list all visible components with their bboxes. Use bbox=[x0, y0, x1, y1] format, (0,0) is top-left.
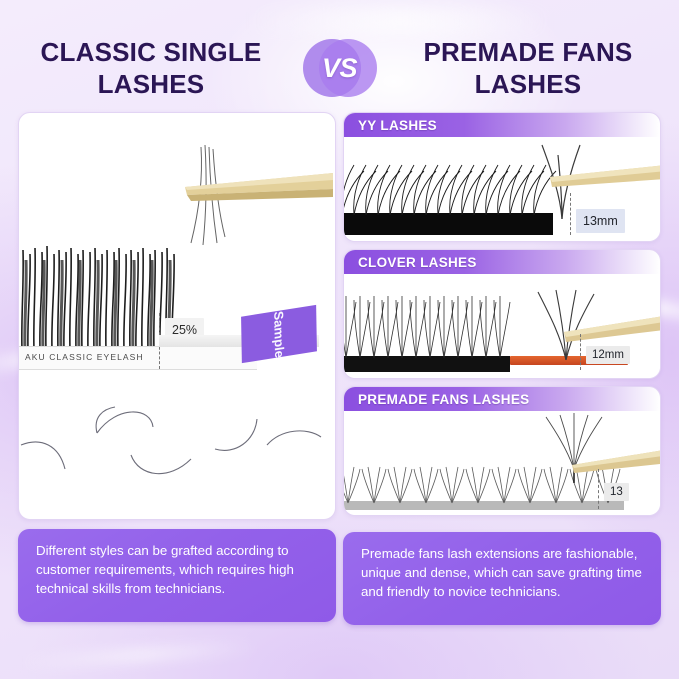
left-column-title: CLASSIC SINGLE LASHES bbox=[6, 36, 296, 101]
premade-fans-banner: PREMADE FANS LASHES bbox=[344, 387, 660, 411]
premade-fan-with-tweezers-illustration bbox=[530, 411, 660, 485]
vs-label: VS bbox=[303, 39, 377, 97]
right-column-title: PREMADE FANS LASHES bbox=[383, 36, 673, 101]
yy-lashes-card: YY LASHES bbox=[343, 112, 661, 242]
measure-guide-line bbox=[570, 193, 571, 235]
classic-lashes-photo-card: AKU CLASSIC EYELASH 25% Sample bbox=[18, 112, 336, 520]
measure-label-13mm: 13mm bbox=[576, 209, 625, 233]
comparison-columns: AKU CLASSIC EYELASH 25% Sample bbox=[0, 112, 679, 642]
measure-label-12mm: 12mm bbox=[586, 346, 630, 364]
clover-lash-tray-illustration bbox=[344, 282, 530, 378]
clover-lashes-title: CLOVER LASHES bbox=[358, 255, 477, 270]
infographic-canvas: CLASSIC SINGLE LASHES VS PREMADE FANS LA… bbox=[0, 0, 679, 679]
yy-lashes-banner: YY LASHES bbox=[344, 113, 660, 137]
clover-lashes-photo: 12mm bbox=[344, 274, 660, 378]
clover-lashes-banner: CLOVER LASHES bbox=[344, 250, 660, 274]
sample-watermark-tag: Sample bbox=[241, 305, 317, 363]
individual-curved-lashes-illustration bbox=[19, 393, 335, 513]
right-column: YY LASHES bbox=[343, 112, 661, 642]
measure-guide-line bbox=[580, 334, 581, 370]
premade-fans-title: PREMADE FANS LASHES bbox=[358, 392, 529, 407]
premade-fans-photo: 13 bbox=[344, 411, 660, 515]
yy-lashes-title: YY LASHES bbox=[358, 118, 437, 133]
right-column-caption: Premade fans lash extensions are fashion… bbox=[343, 532, 661, 625]
clover-lashes-card: CLOVER LASHES bbox=[343, 249, 661, 379]
yy-lashes-photo: 13mm bbox=[344, 137, 660, 241]
premade-fans-lashes-card: PREMADE FANS LASHES bbox=[343, 386, 661, 516]
left-column-caption: Different styles can be grafted accordin… bbox=[18, 529, 336, 622]
left-column: AKU CLASSIC EYELASH 25% Sample bbox=[18, 112, 336, 642]
measure-guide-line bbox=[598, 469, 599, 509]
product-strip-label: AKU CLASSIC EYELASH bbox=[25, 352, 144, 362]
header: CLASSIC SINGLE LASHES VS PREMADE FANS LA… bbox=[0, 28, 679, 108]
background-light-streak bbox=[20, 640, 260, 671]
measure-label-13: 13 bbox=[604, 483, 629, 501]
vs-badge: VS bbox=[303, 39, 377, 97]
sample-tag-text: Sample bbox=[271, 309, 287, 358]
